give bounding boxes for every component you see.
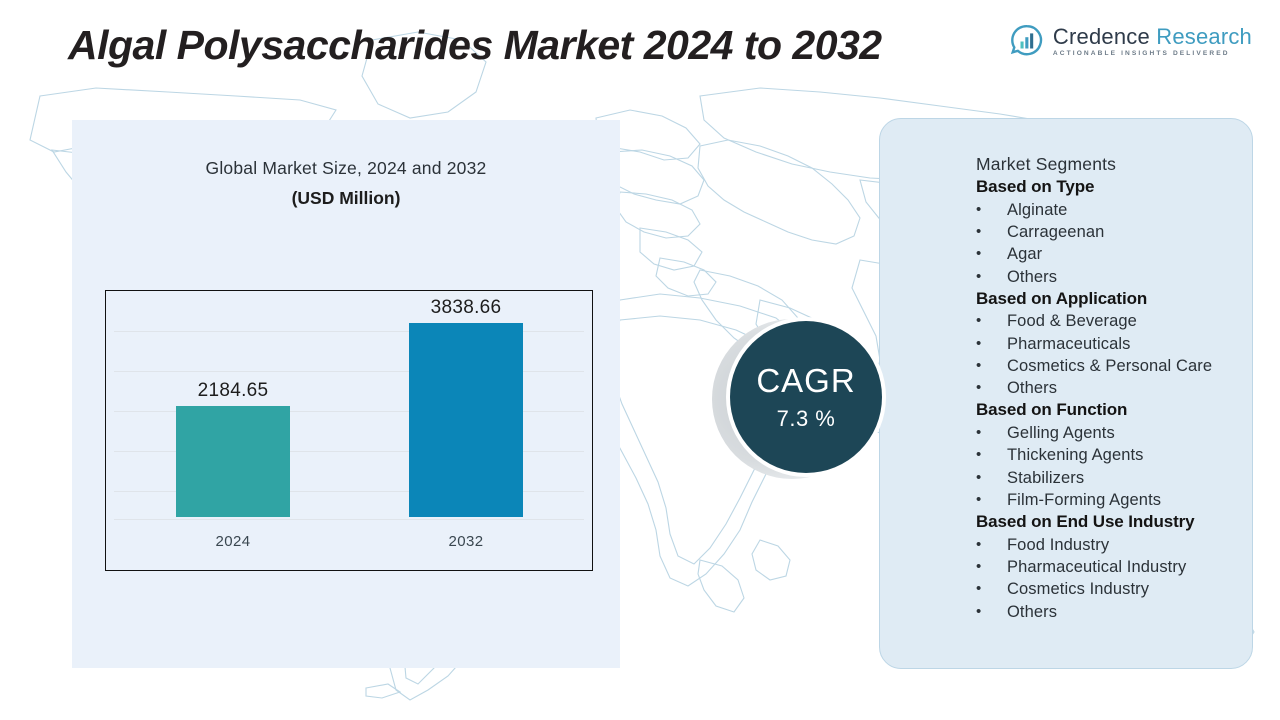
segment-item-label: Carrageenan bbox=[1007, 221, 1252, 243]
brand-wordmark-block: Credence Research Actionable Insights De… bbox=[1053, 25, 1252, 57]
segment-item-label: Gelling Agents bbox=[1007, 422, 1252, 444]
segment-item-label: Thickening Agents bbox=[1007, 444, 1252, 466]
segment-list-item: •Others bbox=[976, 266, 1252, 288]
chart-heading-line2: (USD Million) bbox=[72, 188, 620, 209]
segment-item-label: Others bbox=[1007, 266, 1252, 288]
bullet-icon: • bbox=[976, 489, 1007, 511]
brand-name-research: Research bbox=[1156, 24, 1252, 49]
chart-heading: Global Market Size, 2024 and 2032 (USD M… bbox=[72, 158, 620, 209]
market-segments-panel: Market Segments Based on Type•Alginate•C… bbox=[879, 118, 1253, 669]
market-segments-title: Market Segments bbox=[976, 153, 1252, 176]
market-segments-groups: Based on Type•Alginate•Carrageenan•Agar•… bbox=[976, 176, 1252, 623]
segment-item-label: Others bbox=[1007, 377, 1252, 399]
bullet-icon: • bbox=[976, 199, 1007, 221]
segment-list-item: •Carrageenan bbox=[976, 221, 1252, 243]
bar-category-2024: 2024 bbox=[168, 533, 298, 550]
bullet-icon: • bbox=[976, 467, 1007, 489]
bullet-icon: • bbox=[976, 266, 1007, 288]
cagr-badge: CAGR 7.3 % bbox=[724, 317, 888, 481]
gridline bbox=[114, 519, 584, 520]
bullet-icon: • bbox=[976, 333, 1007, 355]
segment-list-item: •Cosmetics & Personal Care bbox=[976, 355, 1252, 377]
segment-list-item: •Food & Beverage bbox=[976, 310, 1252, 332]
segment-list-item: •Agar bbox=[976, 243, 1252, 265]
segment-item-label: Food Industry bbox=[1007, 534, 1252, 556]
segment-list-item: •Thickening Agents bbox=[976, 444, 1252, 466]
bullet-icon: • bbox=[976, 578, 1007, 600]
segment-list-item: •Others bbox=[976, 377, 1252, 399]
segment-item-label: Cosmetics & Personal Care bbox=[1007, 355, 1252, 377]
segment-list-item: •Cosmetics Industry bbox=[976, 578, 1252, 600]
cagr-value: 7.3 % bbox=[777, 408, 836, 430]
segment-list-item: •Alginate bbox=[976, 199, 1252, 221]
segment-list-item: •Pharmaceutical Industry bbox=[976, 556, 1252, 578]
segment-item-label: Cosmetics Industry bbox=[1007, 578, 1252, 600]
page-title: Algal Polysaccharides Market 2024 to 203… bbox=[68, 22, 882, 69]
brand-name-credence: Credence bbox=[1053, 24, 1150, 49]
bar-value-2024: 2184.65 bbox=[168, 380, 298, 402]
brand-tagline: Actionable Insights Delivered bbox=[1053, 50, 1252, 57]
segment-group-title: Based on Function bbox=[976, 399, 1252, 422]
segment-list-item: •Gelling Agents bbox=[976, 422, 1252, 444]
bar-category-2032: 2032 bbox=[401, 533, 531, 550]
bullet-icon: • bbox=[976, 310, 1007, 332]
segment-list-item: •Stabilizers bbox=[976, 467, 1252, 489]
segment-group-title: Based on End Use Industry bbox=[976, 511, 1252, 534]
segment-group-title: Based on Application bbox=[976, 288, 1252, 311]
segment-item-label: Film-Forming Agents bbox=[1007, 489, 1252, 511]
credence-bar-chart-bubble-icon bbox=[1010, 24, 1044, 58]
bullet-icon: • bbox=[976, 556, 1007, 578]
segment-item-label: Food & Beverage bbox=[1007, 310, 1252, 332]
bar-chart: 2184.65 3838.66 2024 2032 bbox=[105, 290, 593, 571]
bullet-icon: • bbox=[976, 221, 1007, 243]
bar-value-2032: 3838.66 bbox=[401, 297, 531, 319]
bar-2024 bbox=[176, 406, 290, 517]
brand-wordmark: Credence Research bbox=[1053, 25, 1252, 48]
segment-item-label: Pharmaceutical Industry bbox=[1007, 556, 1252, 578]
segment-item-label: Stabilizers bbox=[1007, 467, 1252, 489]
bar-2032 bbox=[409, 323, 523, 517]
bullet-icon: • bbox=[976, 601, 1007, 623]
segment-item-label: Others bbox=[1007, 601, 1252, 623]
segment-item-label: Pharmaceuticals bbox=[1007, 333, 1252, 355]
chart-heading-line1: Global Market Size, 2024 and 2032 bbox=[72, 158, 620, 179]
segment-list-item: •Others bbox=[976, 601, 1252, 623]
bullet-icon: • bbox=[976, 243, 1007, 265]
segment-list-item: •Food Industry bbox=[976, 534, 1252, 556]
bullet-icon: • bbox=[976, 355, 1007, 377]
cagr-label: CAGR bbox=[756, 364, 855, 397]
segment-list-item: •Pharmaceuticals bbox=[976, 333, 1252, 355]
segment-item-label: Agar bbox=[1007, 243, 1252, 265]
brand-logo: Credence Research Actionable Insights De… bbox=[1010, 24, 1252, 58]
bullet-icon: • bbox=[976, 534, 1007, 556]
segment-item-label: Alginate bbox=[1007, 199, 1252, 221]
bullet-icon: • bbox=[976, 422, 1007, 444]
segment-list-item: •Film-Forming Agents bbox=[976, 489, 1252, 511]
bullet-icon: • bbox=[976, 377, 1007, 399]
bullet-icon: • bbox=[976, 444, 1007, 466]
cagr-circle: CAGR 7.3 % bbox=[730, 321, 882, 473]
segment-group-title: Based on Type bbox=[976, 176, 1252, 199]
chart-plot-area: 2184.65 3838.66 2024 2032 bbox=[106, 291, 592, 570]
